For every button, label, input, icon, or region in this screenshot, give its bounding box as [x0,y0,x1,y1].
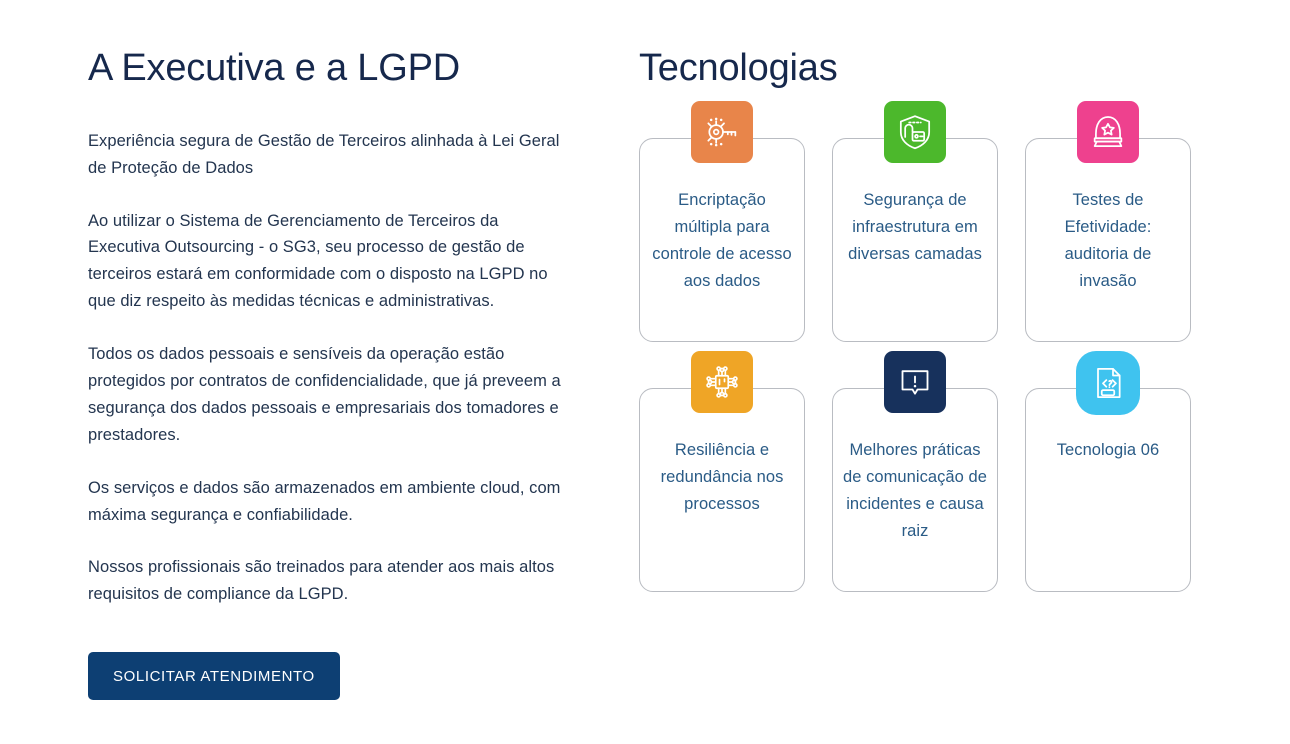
page-title: A Executiva e a LGPD [88,48,578,90]
technology-card-label: Testes de Efetividade: auditoria de inva… [1026,187,1190,296]
cta-container: SOLICITAR ATENDIMENTO [88,652,578,700]
paragraph-1: Experiência segura de Gestão de Terceiro… [88,128,573,182]
technology-card-label: Tecnologia 06 [1047,437,1169,464]
technologies-column: Tecnologias [639,48,1191,592]
technology-card-label: Resiliência e redundância nos processos [640,437,804,519]
lgpd-technologies-page: A Executiva e a LGPD Experiência segura … [0,0,1290,744]
alert-message-icon [884,351,946,413]
technology-card-label: Encriptação múltipla para controle de ac… [640,187,804,296]
technologies-title: Tecnologias [639,48,1191,90]
technology-cards-grid: Encriptação múltipla para controle de ac… [639,138,1191,592]
technology-card[interactable]: Resiliência e redundância nos processos [639,388,805,592]
paragraph-4: Os serviços e dados são armazenados em a… [88,475,573,529]
paragraph-5: Nossos profissionais são treinados para … [88,554,573,608]
paragraph-3: Todos os dados pessoais e sensíveis da o… [88,341,573,449]
technology-card[interactable]: Segurança de infraestrutura em diversas … [832,138,998,342]
paragraph-2: Ao utilizar o Sistema de Gerenciamento d… [88,208,573,316]
technology-card-label: Segurança de infraestrutura em diversas … [833,187,997,269]
technology-card[interactable]: Encriptação múltipla para controle de ac… [639,138,805,342]
technology-card[interactable]: Melhores práticas de comunicação de inci… [832,388,998,592]
lgpd-info-column: A Executiva e a LGPD Experiência segura … [88,48,578,700]
php-file-icon [1076,351,1140,415]
shield-lock-icon [884,101,946,163]
technology-card-label: Melhores práticas de comunicação de inci… [833,437,997,546]
request-service-button[interactable]: SOLICITAR ATENDIMENTO [88,652,340,700]
technology-card[interactable]: Testes de Efetividade: auditoria de inva… [1025,138,1191,342]
police-helmet-icon [1077,101,1139,163]
key-circuit-icon [691,101,753,163]
technology-card[interactable]: Tecnologia 06 [1025,388,1191,592]
microchip-icon [691,351,753,413]
lgpd-body-copy: Experiência segura de Gestão de Terceiro… [88,128,578,608]
